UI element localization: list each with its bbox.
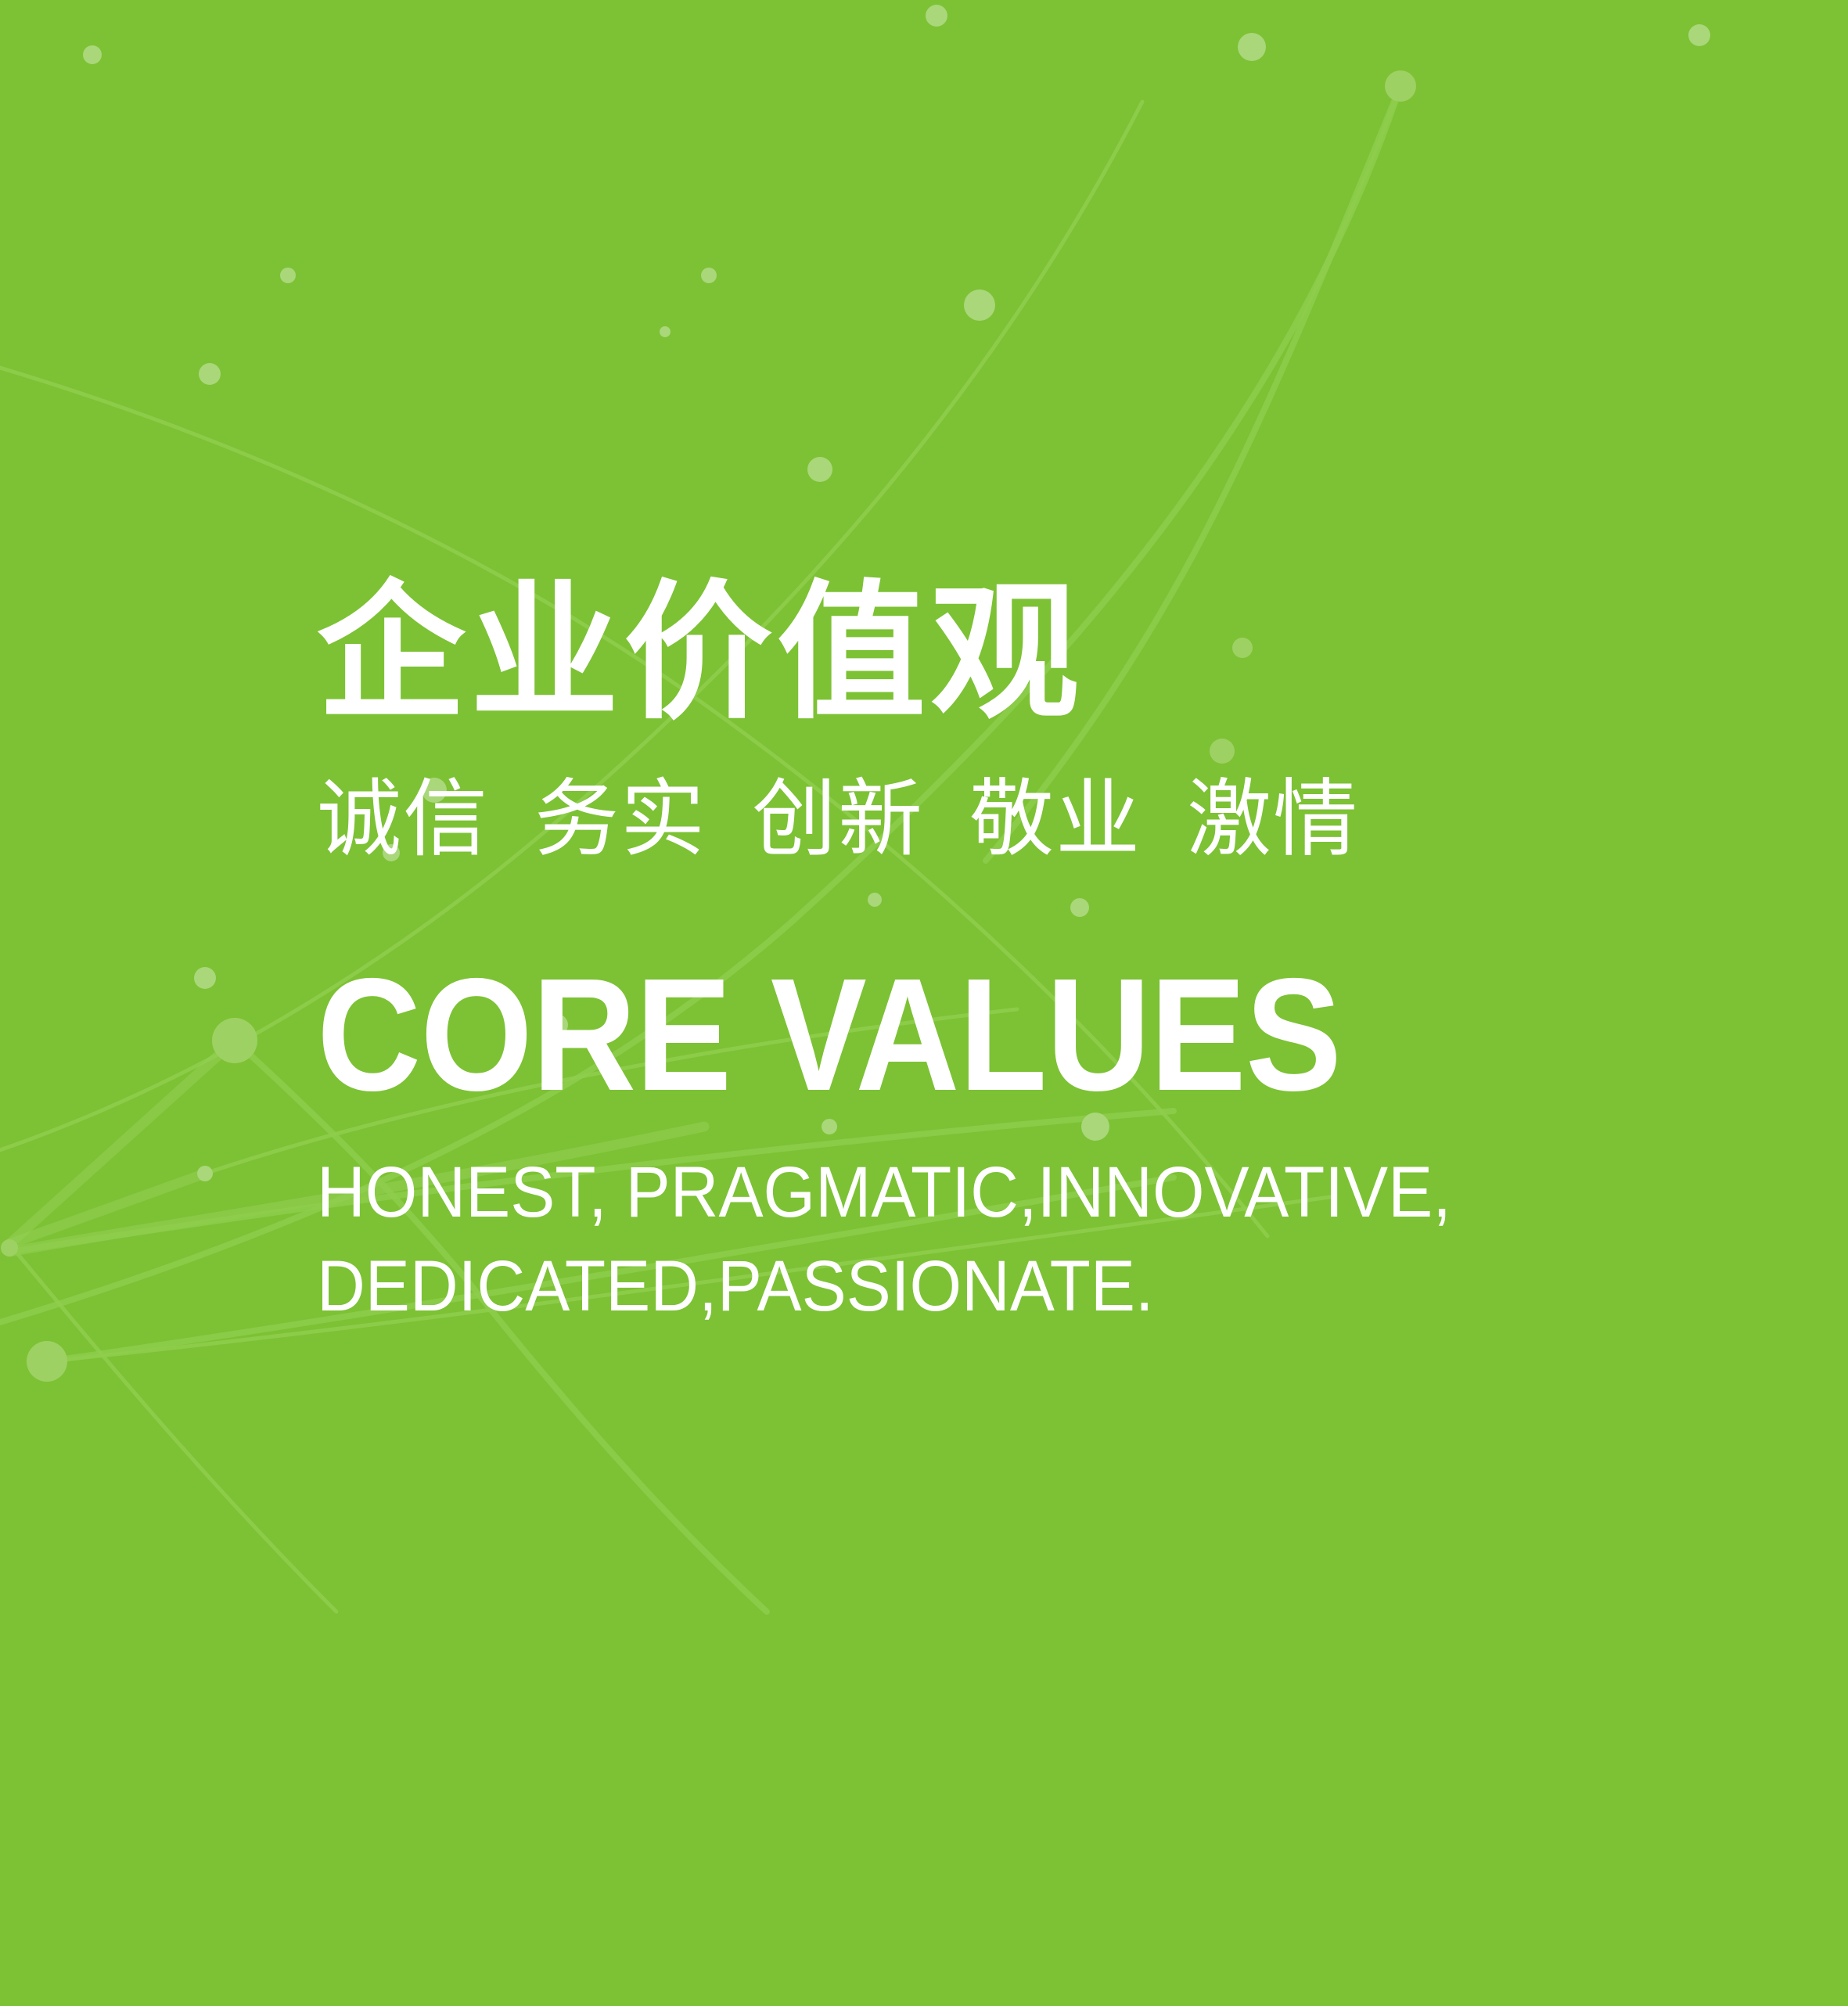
chinese-value-word: 创新 (752, 771, 924, 868)
node-dot-connected (1, 1239, 18, 1256)
chinese-value-word: 诚信 (317, 771, 489, 868)
node-dot (660, 326, 671, 337)
line-node-fan-b (9, 1174, 205, 1244)
node-dot (1688, 24, 1710, 46)
node-dot (701, 268, 717, 283)
node-dot (194, 967, 216, 989)
poster-text-block: 企业价值观 诚信务实创新敬业激情 CORE VALUES HONEST, PRA… (317, 579, 1725, 1333)
page-title-english: CORE VALUES (317, 954, 1584, 1115)
chinese-value-word: 激情 (1187, 771, 1359, 868)
node-dot (83, 45, 102, 64)
node-dot (197, 1166, 213, 1181)
node-dot-connected (1385, 70, 1416, 102)
chinese-values-list: 诚信务实创新敬业激情 (317, 778, 1725, 862)
node-dot (1238, 33, 1266, 61)
node-dot (926, 5, 947, 27)
node-dot-connected (27, 1341, 67, 1382)
line-node-fan-a (9, 1041, 235, 1244)
node-dot (199, 363, 221, 385)
node-dot (280, 268, 296, 283)
chinese-value-word: 务实 (534, 771, 706, 868)
node-dot (807, 457, 832, 482)
core-values-poster: .ln { fill:none; stroke:#8fce4e; stroke-… (0, 0, 1848, 2006)
node-dot (964, 289, 995, 321)
line-node-down-2 (9, 1244, 336, 1612)
english-values-list: HONEST, PRAGMATIC,INNOVATIVE, DEDICATED,… (317, 1146, 1627, 1333)
node-dot-connected (212, 1018, 257, 1063)
english-values-line-1: HONEST, PRAGMATIC,INNOVATIVE, (317, 1146, 1627, 1240)
page-title-chinese: 企业价值观 (317, 579, 1725, 728)
chinese-value-word: 敬业 (969, 771, 1142, 868)
english-values-line-2: DEDICATED,PASSIONATE. (317, 1240, 1627, 1334)
